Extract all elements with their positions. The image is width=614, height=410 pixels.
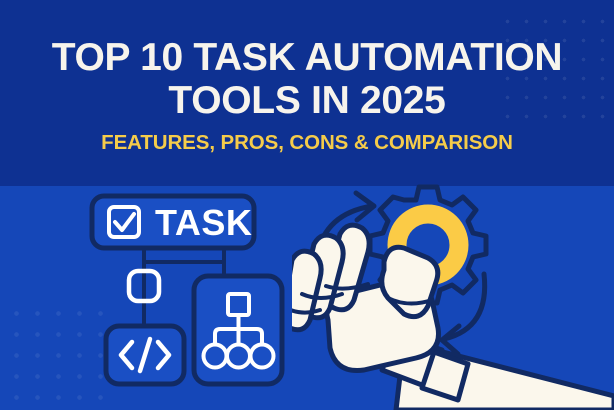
task-badge-label: TASK: [155, 202, 252, 243]
hierarchy-node: [194, 276, 282, 384]
subtitle: FEATURES, PROS, CONS & COMPARISON: [0, 131, 614, 155]
task-badge: TASK: [92, 196, 254, 248]
robotic-hand-with-gear: [292, 182, 614, 410]
code-node: [106, 326, 184, 384]
headline-block: TOP 10 TASK AUTOMATION TOOLS IN 2025 FEA…: [0, 36, 614, 155]
task-workflow-diagram: TASK: [88, 190, 288, 390]
banner-root: TOP 10 TASK AUTOMATION TOOLS IN 2025 FEA…: [0, 0, 614, 410]
title-line-1: TOP 10 TASK AUTOMATION: [0, 36, 614, 79]
title-line-2: TOOLS IN 2025: [0, 79, 614, 122]
